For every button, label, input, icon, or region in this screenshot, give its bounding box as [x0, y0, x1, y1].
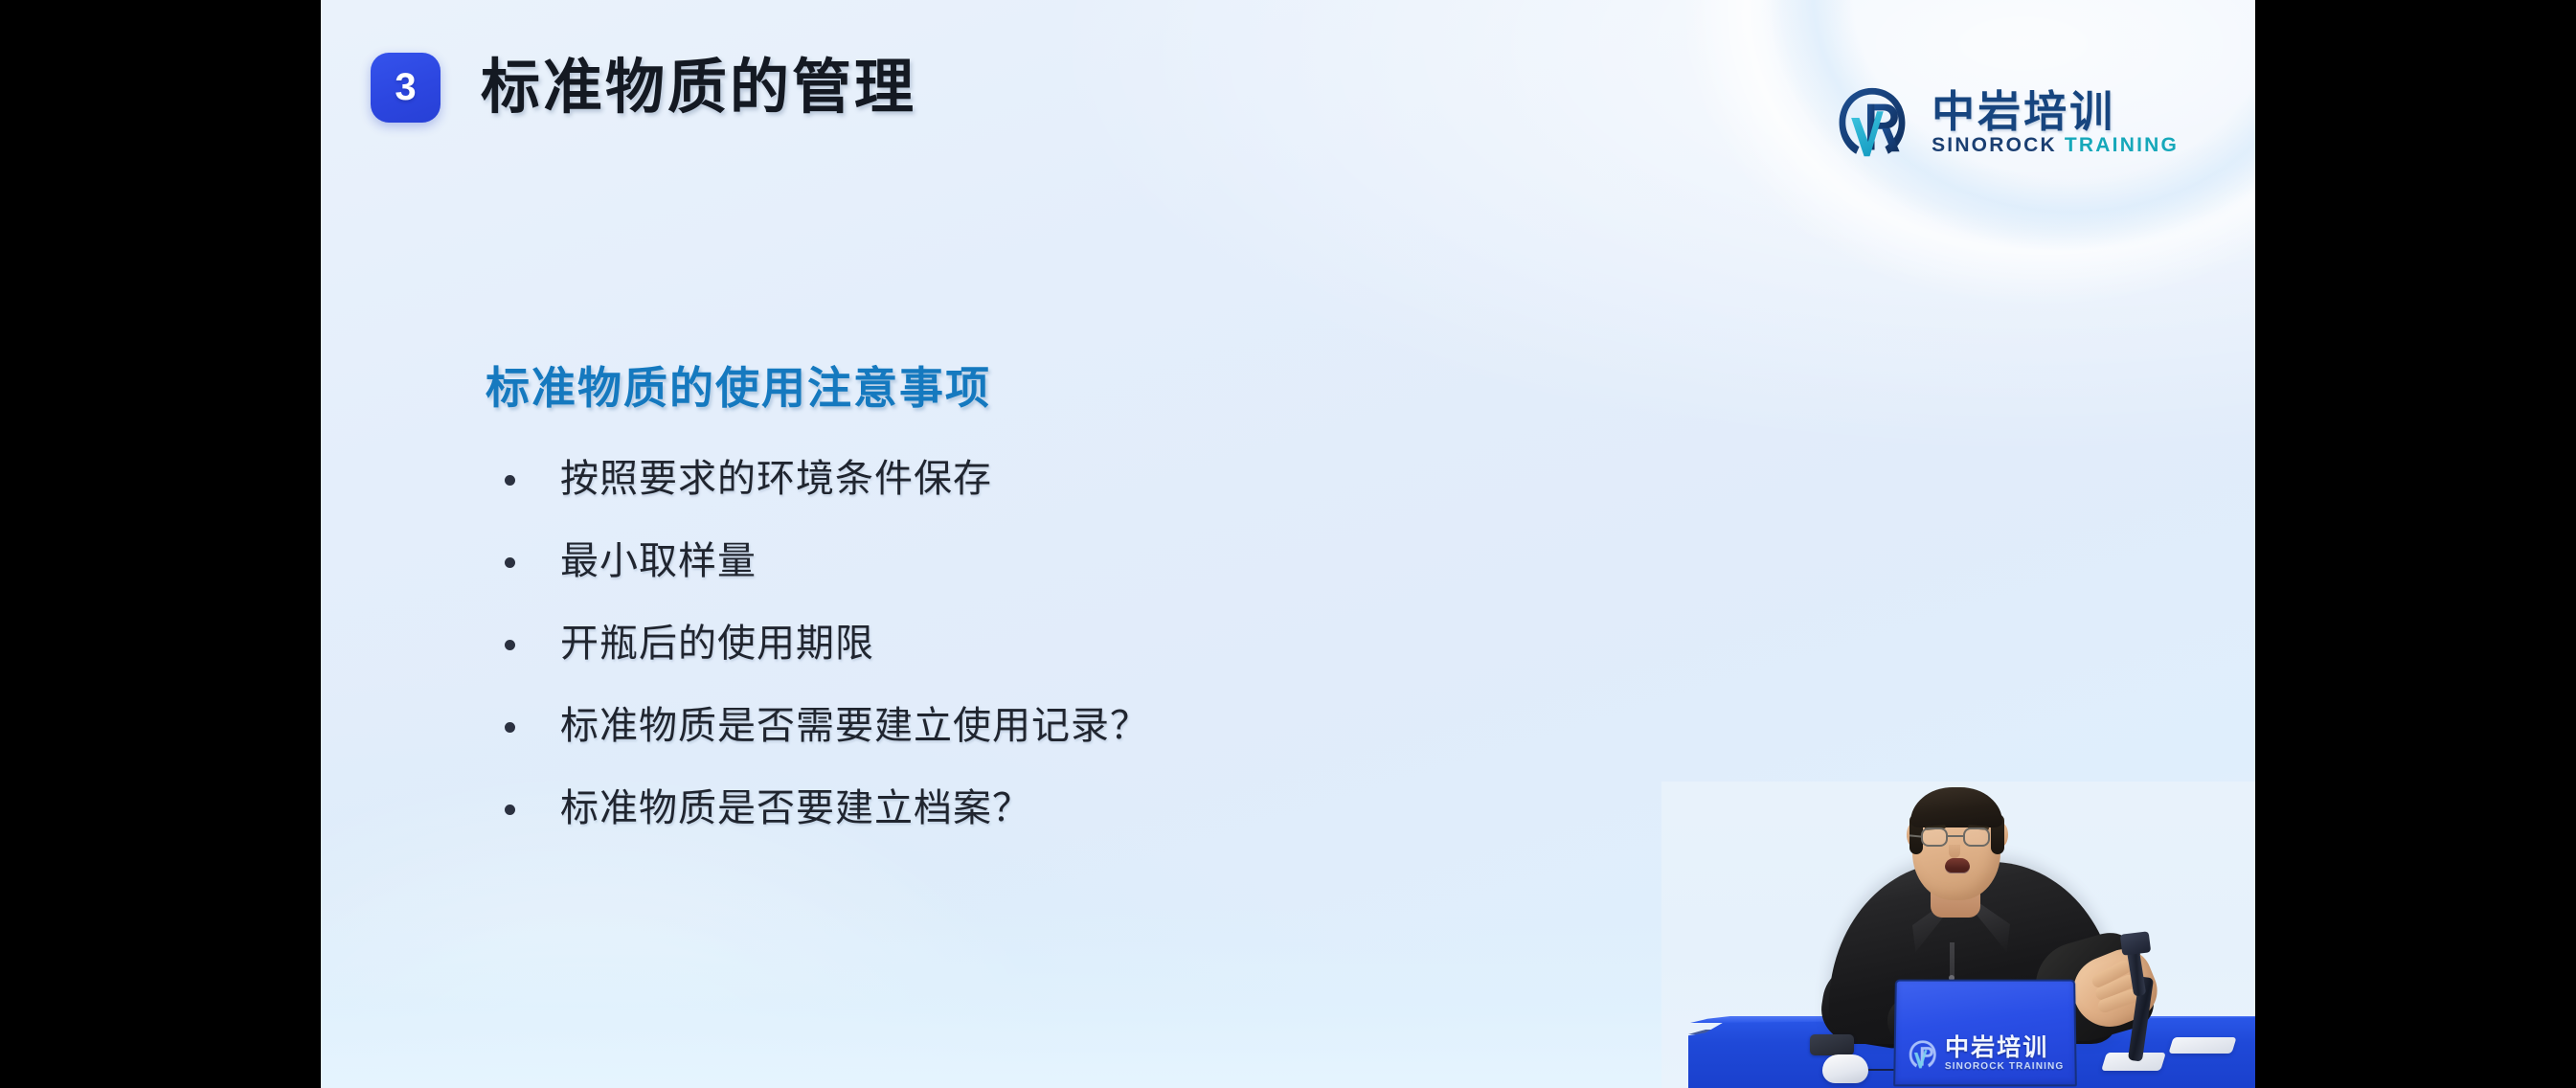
list-item-label: 按照要求的环境条件保存 [560, 453, 992, 505]
presenter-glasses-bridge [1948, 835, 1963, 837]
list-item-label: 标准物质是否需要建立使用记录？ [560, 700, 1149, 752]
laptop-brand-name-cn: 中岩培训 [1945, 1036, 2064, 1060]
presenter-scene: 中岩培训 SINOROCK TRAINING [1661, 782, 2255, 1088]
section-number-badge: 3 [371, 53, 441, 123]
presenter-glasses-left-lens [1921, 827, 1948, 847]
content-heading: 标准物质的使用注意事项 [486, 364, 1730, 413]
list-item: 开瓶后的使用期限 [486, 618, 1730, 669]
slide-header: 3 标准物质的管理 [371, 53, 916, 123]
brand-name-cn: 中岩培训 [1932, 90, 2179, 134]
brand-name-en-primary: SINOROCK [1932, 134, 2057, 156]
page-title: 标准物质的管理 [481, 58, 916, 118]
background-swirl-arc-inner [1670, 0, 2255, 343]
presenter-mouth [1945, 858, 1970, 873]
brand-wordmark: 中岩培训 SINOROCK TRAINING [1932, 90, 2179, 156]
slide-canvas: 3 标准物质的管理 [321, 0, 2255, 1088]
list-item: 标准物质是否要建立档案？ [486, 782, 1730, 834]
presenter-nose [1949, 845, 1960, 858]
list-item: 标准物质是否需要建立使用记录？ [486, 700, 1730, 752]
bullet-list: 按照要求的环境条件保存 最小取样量 开瓶后的使用期限 标准物质是否需要建立使用记… [486, 453, 1730, 834]
sinorock-monogram-icon [1832, 82, 1912, 163]
laptop: 中岩培训 SINOROCK TRAINING [1893, 980, 2077, 1087]
computer-mouse [1822, 1054, 1868, 1083]
desk-device [1810, 1034, 1854, 1055]
section-number-label: 3 [395, 68, 416, 106]
stand-base-rear [2168, 1037, 2236, 1054]
bullet-dot-icon [505, 722, 515, 733]
video-player: 3 标准物质的管理 [0, 0, 2576, 1088]
list-item-label: 最小取样量 [560, 535, 757, 587]
presenter-glasses-right-lens [1963, 827, 1990, 847]
presenter-video-overlay: 中岩培训 SINOROCK TRAINING [1661, 782, 2255, 1088]
presenter-hair [1910, 787, 2002, 827]
slide-content: 标准物质的使用注意事项 按照要求的环境条件保存 最小取样量 开瓶后的使用期限 标… [486, 364, 1730, 834]
stand-head-clamp [2120, 931, 2151, 955]
list-item: 最小取样量 [486, 535, 1730, 587]
brand-name-en: SINOROCK TRAINING [1932, 135, 2179, 155]
bullet-dot-icon [505, 475, 515, 486]
brand-name-en-secondary: TRAINING [2065, 134, 2179, 156]
bullet-dot-icon [505, 640, 515, 650]
list-item: 按照要求的环境条件保存 [486, 453, 1730, 505]
brand-logo: 中岩培训 SINOROCK TRAINING [1832, 82, 2179, 163]
laptop-brand-logo: 中岩培训 SINOROCK TRAINING [1895, 1036, 2074, 1072]
laptop-wordmark: 中岩培训 SINOROCK TRAINING [1945, 1036, 2065, 1072]
bullet-dot-icon [505, 805, 515, 815]
list-item-label: 开瓶后的使用期限 [560, 618, 874, 669]
sinorock-monogram-icon [1907, 1037, 1939, 1070]
laptop-brand-name-en: SINOROCK TRAINING [1945, 1062, 2065, 1072]
list-item-label: 标准物质是否要建立档案？ [560, 782, 1031, 834]
bullet-dot-icon [505, 557, 515, 568]
